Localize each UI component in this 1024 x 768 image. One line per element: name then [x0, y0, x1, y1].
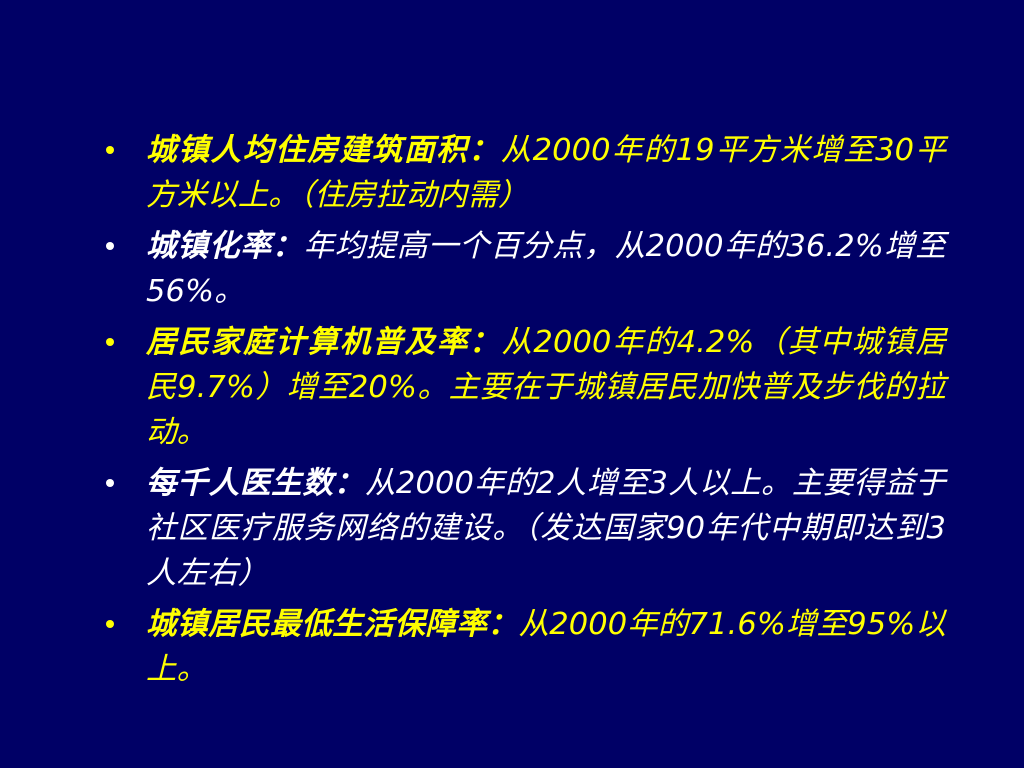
round-bullet-icon: [106, 479, 114, 487]
bullet-content: 居民家庭计算机普及率：从2000年的4.2%（其中城镇居民9.7%）增至20%。…: [146, 320, 946, 455]
bullet-list: 城镇人均住房建筑面积：从2000年的19平方米增至30平方米以上。（住房拉动内需…: [98, 128, 946, 692]
bullet-label: 每千人医生数：: [146, 466, 365, 501]
bullet-label: 城镇居民最低生活保障率：: [146, 607, 519, 642]
bullet-label: 城镇人均住房建筑面积：: [146, 133, 501, 168]
bullet-content: 城镇人均住房建筑面积：从2000年的19平方米增至30平方米以上。（住房拉动内需…: [146, 128, 946, 218]
bullet-label: 居民家庭计算机普及率：: [146, 325, 502, 360]
bullet-item: 居民家庭计算机普及率：从2000年的4.2%（其中城镇居民9.7%）增至20%。…: [98, 320, 946, 455]
round-bullet-icon: [106, 620, 114, 628]
bullet-item: 城镇化率：年均提高一个百分点，从2000年的36.2%增至56%。: [98, 224, 946, 314]
bullet-label: 城镇化率：: [146, 229, 304, 264]
bullet-content: 城镇化率：年均提高一个百分点，从2000年的36.2%增至56%。: [146, 224, 946, 314]
bullet-item: 城镇居民最低生活保障率：从2000年的71.6%增至95%以上。: [98, 602, 946, 692]
bullet-item: 每千人医生数：从2000年的2人增至3人以上。主要得益于社区医疗服务网络的建设。…: [98, 461, 946, 596]
bullet-content: 每千人医生数：从2000年的2人增至3人以上。主要得益于社区医疗服务网络的建设。…: [146, 461, 946, 596]
bullet-item: 城镇人均住房建筑面积：从2000年的19平方米增至30平方米以上。（住房拉动内需…: [98, 128, 946, 218]
presentation-slide: 城镇人均住房建筑面积：从2000年的19平方米增至30平方米以上。（住房拉动内需…: [0, 0, 1024, 768]
bullet-content: 城镇居民最低生活保障率：从2000年的71.6%增至95%以上。: [146, 602, 946, 692]
round-bullet-icon: [106, 242, 114, 250]
round-bullet-icon: [106, 338, 114, 346]
round-bullet-icon: [106, 146, 114, 154]
